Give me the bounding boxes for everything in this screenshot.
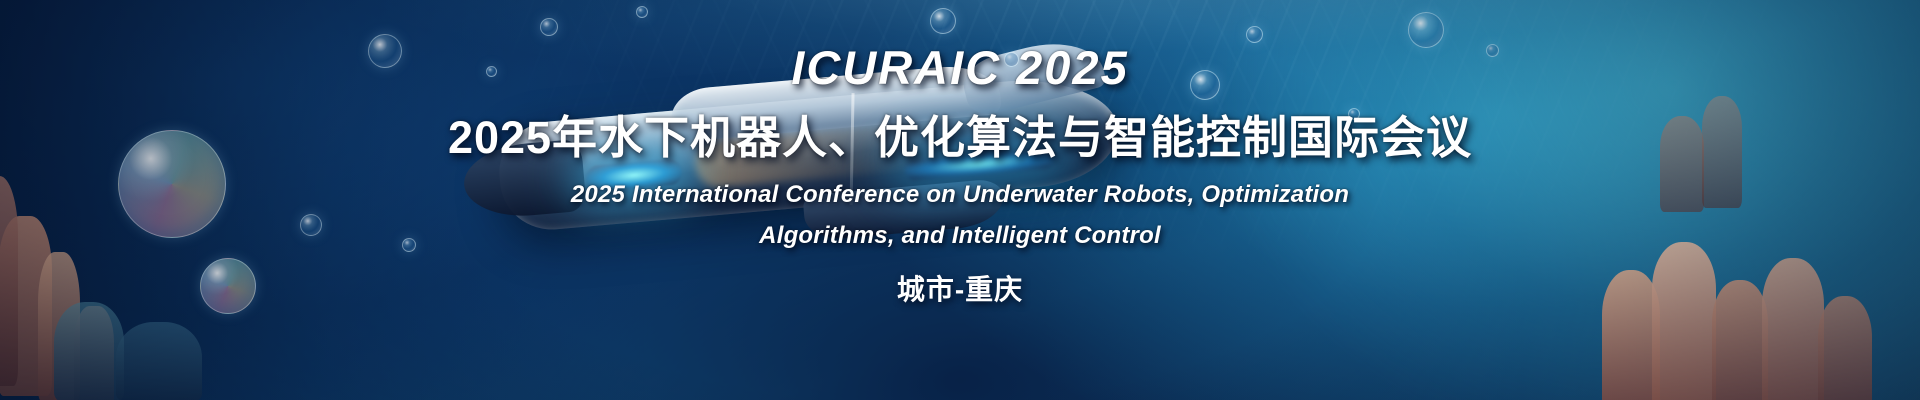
banner-text-block: ICURAIC 2025 2025年水下机器人、优化算法与智能控制国际会议 20… (0, 0, 1920, 400)
conference-title-english-line2: Algorithms, and Intelligent Control (759, 222, 1161, 250)
conference-title-chinese: 2025年水下机器人、优化算法与智能控制国际会议 (448, 101, 1472, 166)
conference-acronym-title: ICURAIC 2025 (791, 40, 1128, 95)
conference-banner: ICURAIC 2025 2025年水下机器人、优化算法与智能控制国际会议 20… (0, 0, 1920, 400)
conference-title-english-line1: 2025 International Conference on Underwa… (571, 181, 1349, 209)
conference-city-label: 城市-重庆 (897, 268, 1023, 308)
